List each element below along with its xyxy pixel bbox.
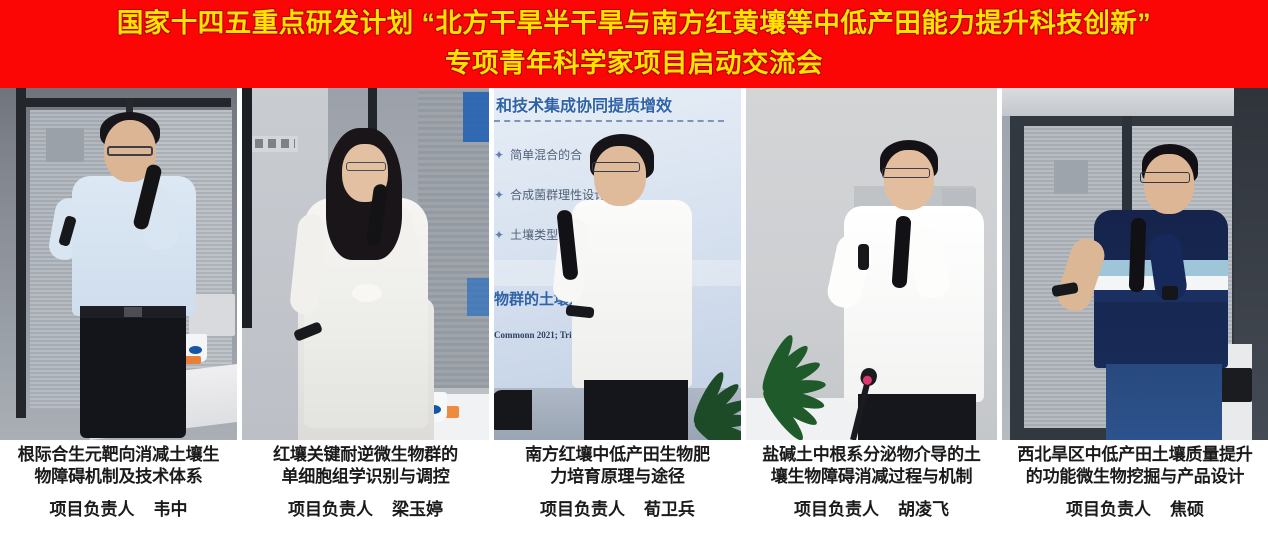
- caption-5: 西北旱区中低产田土壤质量提升 的功能微生物挖掘与产品设计 项目负责人 焦硕: [1002, 444, 1268, 536]
- leader-spacer: [139, 500, 148, 519]
- door-frame-left: [16, 88, 26, 418]
- caption-title-line-1: 西北旱区中低产田土壤质量提升: [1017, 444, 1252, 466]
- leader-spacer: [1156, 500, 1165, 519]
- photo-scene-2: [242, 88, 489, 440]
- caption-leader: 项目负责人 焦硕: [1066, 499, 1204, 521]
- banner-title-line-2: 专项青年科学家项目启动交流会: [445, 43, 823, 83]
- plus-icon: ✦: [494, 188, 504, 202]
- presenter-clicker: [858, 244, 869, 270]
- blue-screen-lower: [467, 278, 489, 316]
- head: [1144, 154, 1194, 214]
- leader-spacer: [378, 500, 387, 519]
- caption-title-line-1: 盐碱土中根系分泌物介导的土: [762, 444, 980, 466]
- caption-title-line-2: 物障碍机制及技术体系: [35, 466, 203, 488]
- trousers: [80, 310, 186, 438]
- plus-icon: ✦: [494, 148, 504, 162]
- wall-vent: [1054, 160, 1088, 194]
- leader-label: 项目负责人: [540, 500, 625, 519]
- leader-name: 韦中: [153, 500, 187, 519]
- speaker-photo-strip: 和技术集成协同提质增效 ✦ 简单混合的合 ✦ 合成菌群理性设计 ✦: [0, 88, 1268, 440]
- speaker-photo-4: [746, 88, 997, 440]
- head: [594, 146, 646, 206]
- photo-scene-3: 和技术集成协同提质增效 ✦ 简单混合的合 ✦ 合成菌群理性设计 ✦: [494, 88, 741, 440]
- glasses-icon: [107, 146, 153, 156]
- slide-divider: [494, 120, 724, 122]
- wristwatch: [1162, 286, 1178, 300]
- leader-name: 荀卫兵: [644, 500, 695, 519]
- caption-title-line-1: 根际合生元靶向消减土壤生: [18, 444, 220, 466]
- poster-banner: 国家十四五重点研发计划 “北方干旱半干旱与南方红黄壤等中低产田能力提升科技创新”…: [0, 0, 1268, 88]
- speaker-photo-2: [242, 88, 489, 440]
- head: [884, 150, 934, 210]
- caption-3: 南方红壤中低产田生物肥 力培育原理与途径 项目负责人 荀卫兵: [494, 444, 741, 536]
- blue-screen-corner: [463, 92, 489, 142]
- leader-spacer: [630, 500, 639, 519]
- caption-leader: 项目负责人 韦中: [50, 499, 188, 521]
- caption-2: 红壤关键耐逆微生物群的 单细胞组学识别与调控 项目负责人 梁玉婷: [242, 444, 489, 536]
- leader-label: 项目负责人: [50, 500, 135, 519]
- leader-name: 胡凌飞: [898, 500, 949, 519]
- dark-edge: [242, 88, 252, 328]
- caption-row: 根际合生元靶向消减土壤生 物障碍机制及技术体系 项目负责人 韦中 红壤关键耐逆微…: [0, 444, 1268, 536]
- caption-title-line-1: 红壤关键耐逆微生物群的: [273, 444, 458, 466]
- glasses-icon: [1140, 172, 1190, 183]
- caption-leader: 项目负责人 梁玉婷: [288, 499, 443, 521]
- caption-title-line-2: 的功能微生物挖掘与产品设计: [1026, 466, 1244, 488]
- caption-title-line-2: 力培育原理与途径: [550, 466, 684, 488]
- poster-root: 国家十四五重点研发计划 “北方干旱半干旱与南方红黄壤等中低产田能力提升科技创新”…: [0, 0, 1268, 536]
- dress-knot: [352, 284, 382, 302]
- caption-leader: 项目负责人 胡凌飞: [794, 499, 949, 521]
- jeans: [1106, 364, 1222, 440]
- belt: [80, 306, 186, 318]
- caption-4: 盐碱土中根系分泌物介导的土 壤生物障碍消减过程与机制 项目负责人 胡凌飞: [746, 444, 997, 536]
- trousers: [584, 380, 688, 440]
- glasses-icon: [882, 168, 930, 178]
- glasses-icon: [346, 162, 386, 171]
- speaker-photo-3: 和技术集成协同提质增效 ✦ 简单混合的合 ✦ 合成菌群理性设计 ✦: [494, 88, 741, 440]
- caption-leader: 项目负责人 荀卫兵: [540, 499, 695, 521]
- chair: [494, 390, 532, 430]
- photo-scene-4: [746, 88, 997, 440]
- caption-title-line-1: 南方红壤中低产田生物肥: [525, 444, 710, 466]
- shirt: [72, 176, 196, 316]
- caption-title-line-2: 壤生物障碍消减过程与机制: [771, 466, 973, 488]
- speaker-photo-5: [1002, 88, 1268, 440]
- wall-vent: [46, 128, 84, 162]
- trousers: [858, 394, 976, 440]
- leader-label: 项目负责人: [1066, 500, 1151, 519]
- leader-label: 项目负责人: [794, 500, 879, 519]
- caption-1: 根际合生元靶向消减土壤生 物障碍机制及技术体系 项目负责人 韦中: [0, 444, 237, 536]
- wall-sockets: [252, 136, 298, 152]
- slide-title: 和技术集成协同提质增效: [496, 92, 686, 114]
- caption-title-line-2: 单细胞组学识别与调控: [282, 466, 450, 488]
- leader-spacer: [884, 500, 893, 519]
- plus-icon: ✦: [494, 228, 504, 242]
- microphone-icon: [1129, 218, 1147, 292]
- leader-name: 焦硕: [1170, 500, 1204, 519]
- shirt: [572, 200, 692, 388]
- ceiling-strip: [1002, 88, 1268, 116]
- glasses-icon: [592, 162, 640, 172]
- photo-scene-1: [0, 88, 237, 440]
- door-frame-top: [16, 98, 231, 107]
- speaker-photo-1: [0, 88, 237, 440]
- leader-label: 项目负责人: [288, 500, 373, 519]
- banner-title-line-1: 国家十四五重点研发计划 “北方干旱半干旱与南方红黄壤等中低产田能力提升科技创新”: [117, 3, 1151, 43]
- leader-name: 梁玉婷: [392, 500, 443, 519]
- slide-bullet-text: 简单混合的合: [510, 146, 582, 163]
- photo-scene-5: [1002, 88, 1268, 440]
